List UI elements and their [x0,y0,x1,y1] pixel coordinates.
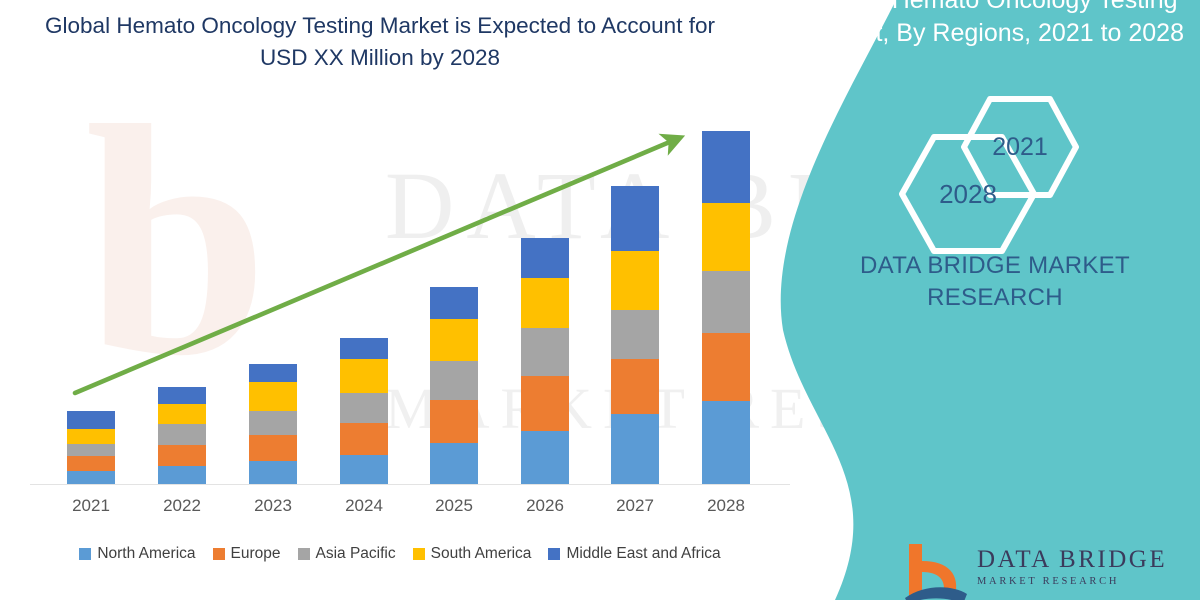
x-axis-label-2025: 2025 [419,496,489,516]
bar-segment-middle-east-and-africa [249,364,297,381]
bar-segment-europe [340,423,388,455]
bar-segment-middle-east-and-africa [430,287,478,319]
data-bridge-logo-icon [905,542,967,600]
bar-segment-south-america [158,404,206,424]
bar-segment-middle-east-and-africa [67,411,115,429]
bar-segment-europe [611,359,659,414]
bar-segment-south-america [340,359,388,393]
bar-segment-middle-east-and-africa [611,186,659,252]
x-axis-label-2022: 2022 [147,496,217,516]
bar-segment-asia-pacific [611,310,659,359]
bar-segment-asia-pacific [249,411,297,435]
logo-title: DATA BRIDGE [977,546,1167,574]
bar-2026 [521,238,569,485]
logo-text-block: DATA BRIDGE MARKET RESEARCH [977,546,1167,587]
brand-name: DATA BRIDGE MARKET RESEARCH [795,250,1195,315]
legend-swatch-icon [79,548,91,560]
chart-legend: North AmericaEuropeAsia PacificSouth Ame… [0,540,800,568]
legend-label: South America [431,545,532,563]
legend-swatch-icon [213,548,225,560]
bar-segment-europe [249,435,297,461]
bar-2022 [158,387,206,485]
legend-label: Asia Pacific [316,545,396,563]
x-axis-label-2023: 2023 [238,496,308,516]
bar-segment-north-america [249,461,297,485]
bar-2021 [67,411,115,485]
bar-segment-north-america [67,471,115,485]
bar-segment-middle-east-and-africa [340,338,388,359]
hexagon-label-2021: 2021 [992,133,1048,162]
legend-label: North America [97,545,195,563]
bar-segment-north-america [430,443,478,485]
bar-2028 [702,131,750,485]
bar-segment-asia-pacific [430,361,478,400]
x-axis-label-2021: 2021 [56,496,126,516]
bar-segment-south-america [521,278,569,328]
hexagon-label-2028: 2028 [939,179,997,210]
legend-item-europe[interactable]: Europe [213,545,281,563]
bar-segment-south-america [67,429,115,444]
bar-segment-north-america [521,431,569,485]
bar-segment-asia-pacific [158,424,206,444]
x-axis-label-2026: 2026 [510,496,580,516]
x-axis-label-2024: 2024 [329,496,399,516]
bar-segment-middle-east-and-africa [521,238,569,278]
bar-segment-asia-pacific [340,393,388,423]
bar-segment-europe [702,333,750,401]
bar-segment-south-america [430,319,478,361]
hexagon-badge-group: 2021 2028 [780,95,1200,240]
bar-segment-south-america [611,251,659,310]
bar-segment-middle-east-and-africa [158,387,206,404]
chart-title: Global Hemato Oncology Testing Market is… [30,10,730,74]
bar-segment-europe [521,376,569,431]
bar-segment-asia-pacific [521,328,569,377]
bar-segment-europe [67,456,115,471]
bar-segment-asia-pacific [67,444,115,456]
panel-title: Global Hemato Oncology Testing Market, B… [800,0,1190,50]
bar-segment-asia-pacific [702,271,750,333]
bar-segment-north-america [340,455,388,485]
legend-label: Europe [231,545,281,563]
bar-segment-south-america [702,203,750,271]
bar-segment-north-america [611,414,659,485]
bar-segment-europe [158,445,206,466]
company-logo: DATA BRIDGE MARKET RESEARCH [905,538,1195,600]
bar-2024 [340,338,388,485]
bar-2027 [611,186,659,485]
bar-segment-europe [430,400,478,443]
right-info-panel: b Global Hemato Oncology Testing Market,… [780,0,1200,600]
x-axis-line [30,484,790,485]
bar-segment-south-america [249,382,297,411]
legend-swatch-icon [298,548,310,560]
bar-segment-middle-east-and-africa [702,131,750,203]
legend-swatch-icon [548,548,560,560]
plot-region [0,110,800,485]
x-axis-labels: 20212022202320242025202620272028 [0,496,800,524]
chart-area: Global Hemato Oncology Testing Market is… [0,0,820,600]
bar-segment-north-america [158,466,206,486]
bar-2025 [430,287,478,485]
legend-item-asia-pacific[interactable]: Asia Pacific [298,545,396,563]
x-axis-label-2027: 2027 [600,496,670,516]
legend-label: Middle East and Africa [566,545,720,563]
bar-segment-north-america [702,401,750,485]
legend-item-south-america[interactable]: South America [413,545,532,563]
legend-swatch-icon [413,548,425,560]
bar-series-container [0,110,800,485]
bar-2023 [249,364,297,485]
legend-item-north-america[interactable]: North America [79,545,195,563]
x-axis-label-2028: 2028 [691,496,761,516]
logo-subtitle: MARKET RESEARCH [977,576,1167,587]
legend-item-middle-east-and-africa[interactable]: Middle East and Africa [548,545,720,563]
